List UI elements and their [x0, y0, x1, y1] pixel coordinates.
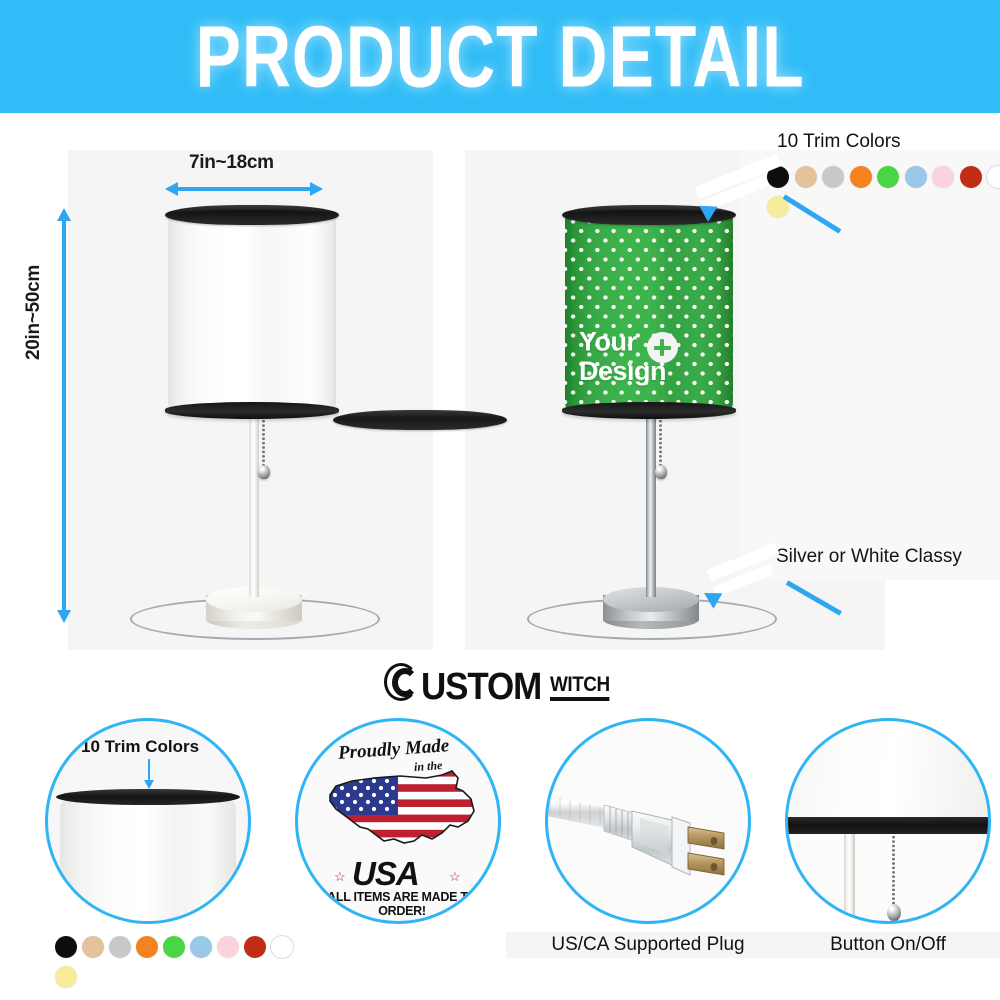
star-icon-left: ☆ [334, 869, 346, 885]
pull-chain [659, 419, 662, 469]
trim-color-swatch-tan[interactable] [795, 166, 817, 188]
circle-c-icon [384, 663, 420, 703]
logo-word-sub: WITCH [550, 676, 610, 701]
base-finish-label: Silver or White Classy [776, 546, 962, 568]
page-title: PRODUCT DETAIL [195, 6, 804, 106]
trim-colors-swatch-row-bottom-2 [55, 966, 77, 988]
trim-color-swatch-yellow[interactable] [55, 966, 77, 988]
trim-colors-label: 10 Trim Colors [777, 131, 901, 153]
lamp-pole-closeup [844, 834, 855, 924]
trim-color-swatch-white[interactable] [987, 166, 1000, 188]
usa-flag-map-icon [322, 769, 480, 853]
arrow-down-icon [57, 610, 71, 623]
your-design-placeholder: Your Design [579, 328, 678, 385]
height-dimension-arrow [57, 208, 71, 623]
trim-colors-pointer-arrow [700, 175, 780, 220]
trim-color-swatch-light-blue[interactable] [190, 936, 212, 958]
pull-chain-ball-closeup[interactable] [887, 904, 901, 921]
pull-chain-ball[interactable] [258, 465, 270, 479]
green-lamp-trim-bottom [562, 402, 736, 419]
feature-caption: Button On/Off [775, 932, 1000, 958]
made-in-usa-badge: Proudly Made in the [316, 737, 486, 912]
width-dimension-arrow [165, 182, 323, 196]
shade-surface [168, 212, 336, 410]
shade-trim-closeup [785, 817, 991, 834]
trim-color-swatch-light-blue[interactable] [905, 166, 927, 188]
pull-chain-closeup [892, 835, 895, 907]
trim-colors-swatch-row-bottom-1 [55, 936, 293, 958]
white-lamp-trim-bottom [165, 402, 339, 419]
lamp-shade-closeup [60, 799, 236, 924]
base-finish-pointer-arrow [705, 560, 785, 605]
trim-color-swatch-green[interactable] [877, 166, 899, 188]
trim-colors-swatch-row-top-1 [767, 166, 1000, 188]
feature-inner-label: 10 Trim Colors [81, 737, 199, 757]
trim-color-swatch-gray[interactable] [109, 936, 131, 958]
lamp-pole [249, 419, 259, 597]
trim-color-swatch-green[interactable] [163, 936, 185, 958]
feature-circle [785, 718, 991, 924]
lamp-shade-bottom-closeup [785, 718, 991, 823]
pull-chain [262, 419, 265, 469]
trim-color-swatch-black[interactable] [55, 936, 77, 958]
down-arrow-icon [144, 759, 154, 789]
feature-caption: US/CA Supported Plug [506, 932, 790, 958]
shade-trim-closeup [56, 789, 240, 805]
trim-color-swatch-gray[interactable] [822, 166, 844, 188]
plus-circle-icon[interactable] [647, 332, 678, 363]
trim-color-swatch-red[interactable] [960, 166, 982, 188]
feature-circle [545, 718, 751, 924]
trim-color-swatch-white[interactable] [271, 936, 293, 958]
trim-color-swatch-orange[interactable] [136, 936, 158, 958]
feature-circle: 10 Trim Colors [45, 718, 251, 924]
brand-logo: USTOM WITCH [0, 663, 1000, 703]
arrow-right-icon [310, 182, 323, 196]
trim-color-swatch-pink[interactable] [217, 936, 239, 958]
trim-color-swatch-pink[interactable] [932, 166, 954, 188]
shade-surface: Your Design [565, 212, 733, 410]
two-prong-plug-icon [548, 771, 751, 891]
lamp-pole [646, 419, 656, 597]
white-lamp-trim-top [165, 205, 339, 225]
logo-word-main: USTOM [421, 671, 541, 703]
header-banner: PRODUCT DETAIL [0, 0, 1000, 113]
pull-chain-ball[interactable] [655, 465, 667, 479]
badge-big-text: USA [352, 855, 419, 893]
trim-color-swatch-orange[interactable] [850, 166, 872, 188]
lamp-shade: Your Design [565, 205, 733, 417]
badge-sub-text: ALL ITEMS ARE MADE TO ORDER! [318, 890, 486, 918]
trim-color-swatch-tan[interactable] [82, 936, 104, 958]
shade-trim-top [333, 410, 507, 430]
product-detail-image: PRODUCT DETAIL [0, 0, 1000, 1000]
lamp-shade [168, 205, 336, 417]
width-dimension-label: 7in~18cm [186, 152, 277, 174]
height-dimension-label: 20in~50cm [23, 265, 45, 360]
design-line-1: Your [579, 327, 637, 357]
feature-circle: Proudly Made in the [295, 718, 501, 924]
trim-color-swatch-red[interactable] [244, 936, 266, 958]
star-icon-right: ☆ [449, 869, 461, 885]
